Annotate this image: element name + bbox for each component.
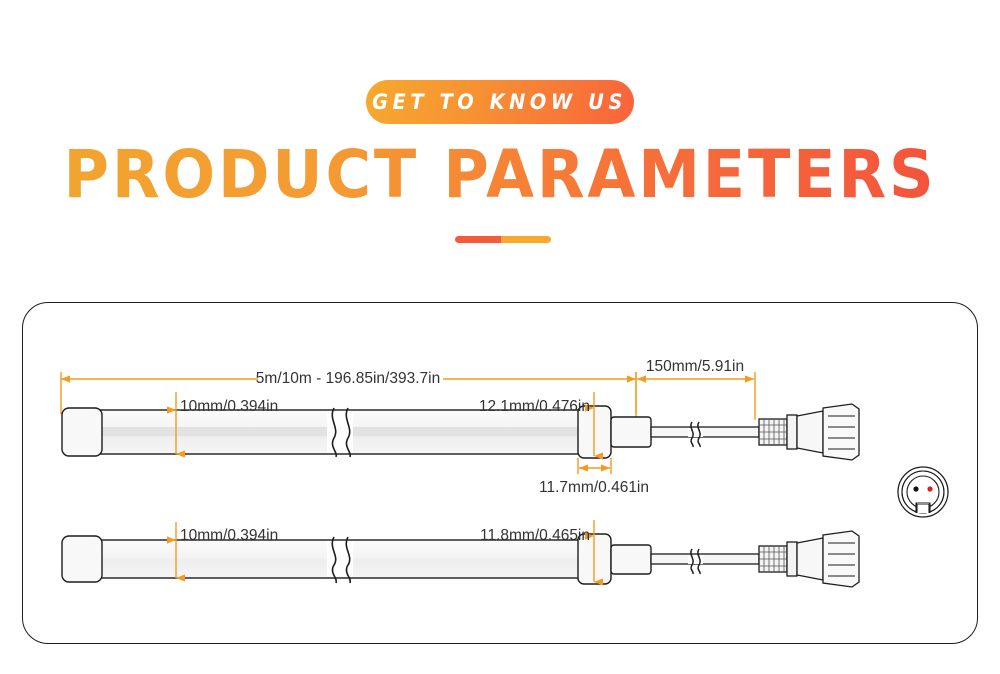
connector-knurl-2 bbox=[759, 546, 787, 572]
connector-collar-2 bbox=[787, 542, 797, 576]
label-end-block-width: 11.7mm/0.461in bbox=[539, 479, 649, 496]
cable-sleeve bbox=[611, 417, 651, 447]
connector-spline-cap-2 bbox=[823, 531, 859, 587]
connector-pinout-detail bbox=[898, 467, 948, 517]
connector-body bbox=[797, 411, 823, 453]
strip-end-cap-left bbox=[62, 408, 102, 456]
label-strip-height-bottom: 10mm/0.394in bbox=[180, 527, 278, 544]
cable-sleeve-2 bbox=[611, 545, 651, 574]
power-cable-2 bbox=[651, 554, 759, 564]
label-overall-length: 5m/10m - 196.85in/393.7in bbox=[256, 370, 440, 387]
strip-end-cap-left-2 bbox=[62, 536, 102, 582]
strip-break-symbol bbox=[327, 408, 353, 457]
power-cable bbox=[651, 427, 759, 437]
product-parameters-page: { "header": { "badge_label": "GET TO KNO… bbox=[0, 0, 1000, 674]
label-end-block-height-top: 12.1mm/0.476in bbox=[479, 398, 590, 415]
connector-knurl bbox=[759, 419, 787, 445]
connector-collar bbox=[787, 415, 797, 449]
technical-drawing: 5m/10m - 196.85in/393.7in 150mm/5.91in 1… bbox=[0, 0, 1000, 674]
label-end-block-height-bottom: 11.8mm/0.465in bbox=[480, 527, 590, 544]
pin-negative-icon bbox=[913, 486, 918, 491]
dim-cable-length bbox=[636, 372, 755, 420]
label-strip-height-top: 10mm/0.394in bbox=[180, 398, 278, 415]
cable-break-symbol-2 bbox=[688, 549, 703, 574]
top-strip-row: 5m/10m - 196.85in/393.7in 150mm/5.91in 1… bbox=[61, 358, 859, 496]
cable-break-symbol bbox=[688, 422, 703, 447]
pin-positive-icon bbox=[927, 486, 932, 491]
connector-spline-cap bbox=[823, 404, 859, 460]
strip-break-symbol-2 bbox=[327, 537, 353, 583]
label-cable-length: 150mm/5.91in bbox=[646, 358, 744, 375]
bottom-strip-row: 10mm/0.394in 11.8mm/0.465in bbox=[62, 520, 859, 587]
connector-body-2 bbox=[797, 538, 823, 580]
dim-end-block-width bbox=[578, 458, 611, 474]
